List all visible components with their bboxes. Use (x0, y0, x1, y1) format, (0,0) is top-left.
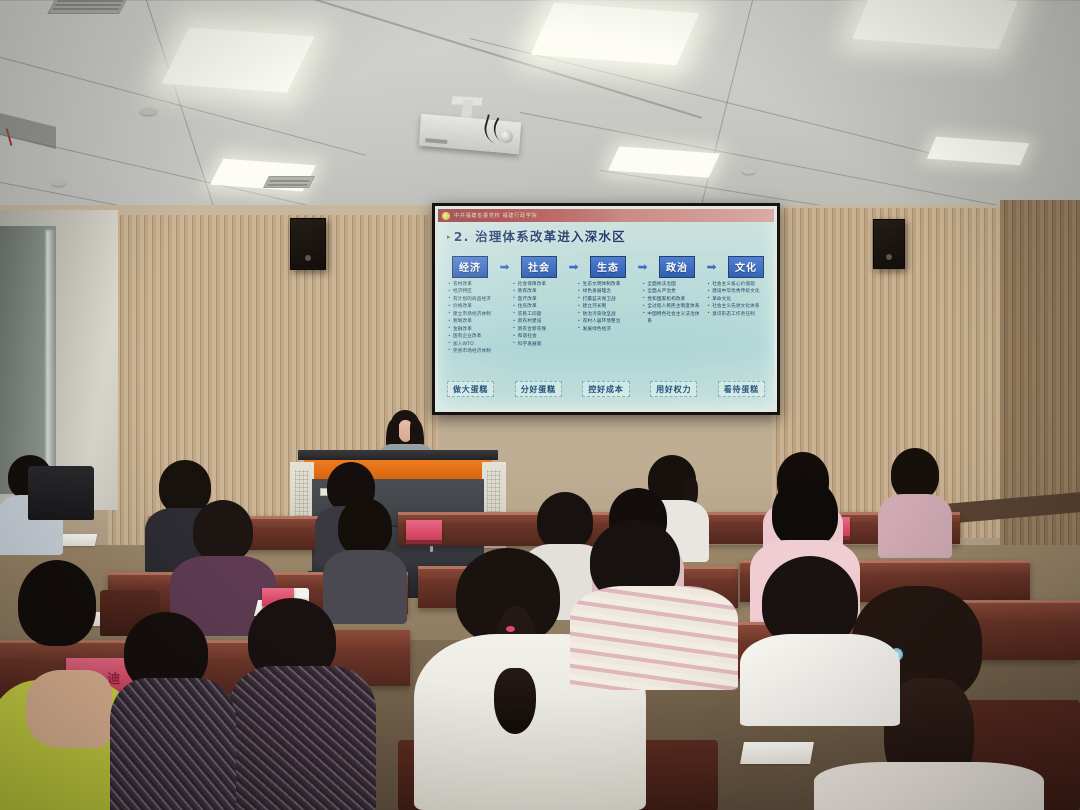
bullet-item: 全过程人民民主制度体系 (642, 303, 703, 310)
attendee-left-front (110, 612, 230, 810)
bullet-item: 新农村建设 (513, 318, 574, 325)
wall-speaker-left (290, 218, 326, 270)
attendee-torso (878, 494, 952, 558)
bullet-column-society: 社会保障改革 教育改革 医疗改革 住房改革 农民工问题 新农村建设 新农合新农保… (513, 281, 574, 355)
ceiling-light-panel (162, 27, 315, 92)
attendee-torso-striped (570, 586, 738, 690)
bottom-box-use-power-well: 用好权力 (650, 381, 697, 397)
bullet-item: 建立河长制 (578, 303, 639, 310)
ceiling-dark-panel (0, 113, 56, 149)
bullet-item: 建立市场经济体制 (448, 311, 509, 318)
bullet-item: 全面依法治国 (642, 281, 703, 288)
notepad (740, 742, 814, 764)
attendee-left-mid (236, 598, 366, 810)
ceiling-light-panel (927, 137, 1029, 166)
bullet-item: 社会主义先进文化体系 (707, 303, 768, 310)
bottom-box-divide-cake-well: 分好蛋糕 (515, 381, 562, 397)
bullet-item: 社会保障改革 (513, 281, 574, 288)
attendee (884, 448, 946, 556)
smoke-detector-icon (140, 108, 157, 115)
bullet-column-economy: 农村改革 经济特区 有计划的商品经济 价格改革 建立市场经济体制 税制改革 金融… (448, 281, 509, 355)
classroom-photo: 中共福建省委党校 福建行政学院 ▸2. 治理体系改革进入深水区 经济 ➡ 社会 … (0, 0, 1080, 810)
attendee-torso-patterned (110, 678, 236, 810)
bullet-item: 农民工问题 (513, 311, 574, 318)
attendee-head (891, 448, 939, 500)
slide-bottom-boxes: 做大蛋糕 分好蛋糕 控好成本 用好权力 看待蛋糕 (447, 381, 765, 397)
bullet-item: 全面从严治党 (642, 288, 703, 295)
bullet-item: 教育改革 (513, 288, 574, 295)
bullet-column-ecology: 生态文明体制改革 绿色发展理念 打赢蓝天保卫战 建立河长制 防治污染攻坚战 农村… (578, 281, 639, 355)
arrow-right-icon: ➡ (637, 261, 647, 273)
attendee-arm (26, 670, 112, 748)
speaker-driver-icon (305, 255, 311, 261)
bullet-item: 税制改革 (448, 318, 509, 325)
bullet-item: 打赢蓝天保卫战 (578, 296, 639, 303)
bottom-box-make-cake-bigger: 做大蛋糕 (447, 381, 494, 397)
ceiling (0, 0, 1080, 215)
bullet-item: 医疗改革 (513, 296, 574, 303)
arrow-right-icon: ➡ (706, 261, 716, 273)
bullet-item: 经济特区 (448, 288, 509, 295)
bullet-item: 住房改革 (513, 303, 574, 310)
wall-speaker-right (873, 219, 905, 269)
bullet-item: 农村改革 (448, 281, 509, 288)
attendee-torso (740, 634, 900, 726)
smoke-detector-icon (742, 168, 755, 174)
bullet-item: 社会主义核心价值观 (707, 281, 768, 288)
bullet-item: 建设中华优秀传统文化 (707, 288, 768, 295)
chair-back (28, 466, 94, 520)
bullet-item: 中国特色社会主义法治体系 (642, 311, 703, 326)
bullet-item: 绿色发展理念 (578, 288, 639, 295)
bullet-item: 农村人居环境整治 (578, 318, 639, 325)
wood-slat-wall-far-right (1000, 200, 1080, 580)
bullet-item: 革命文化 (707, 296, 768, 303)
arrow-right-icon: ➡ (568, 261, 578, 273)
bullet-item: 生态文明体制改革 (578, 281, 639, 288)
attendee-torso (814, 762, 1044, 810)
ceiling-vent (47, 0, 129, 14)
bullet-item: 科学发展观 (513, 341, 574, 348)
slide-chain-row: 经济 ➡ 社会 ➡ 生态 ➡ 政治 ➡ 文化 (452, 256, 764, 278)
namecard (406, 520, 442, 540)
bullet-item: 有计划的商品经济 (448, 296, 509, 303)
bottom-box-control-cost: 控好成本 (582, 381, 629, 397)
chain-box-politics: 政治 (659, 256, 695, 278)
attendee-front-left (0, 560, 110, 810)
bullet-item: 加入WTO (448, 341, 509, 348)
bullet-item: 价格改革 (448, 303, 509, 310)
window-light-glow (46, 230, 55, 492)
attendee-head (338, 498, 392, 556)
ceiling-light-panel (852, 0, 1017, 49)
chain-box-culture: 文化 (728, 256, 764, 278)
smoke-detector-icon (52, 180, 65, 186)
bullet-item: 发展绿色经济 (578, 326, 639, 333)
speaker-driver-icon (886, 254, 892, 260)
bullet-item: 防治污染攻坚战 (578, 311, 639, 318)
bullet-item: 完善市场经济体制 (448, 348, 509, 355)
attendee-head (193, 500, 253, 562)
bullet-column-politics: 全面依法治国 全面从严治党 党和国家机构改革 全过程人民民主制度体系 中国特色社… (642, 281, 703, 355)
bullet-item: 金融改革 (448, 326, 509, 333)
slide-title: ▸2. 治理体系改革进入深水区 (447, 226, 626, 245)
bullet-item: 和谐社会 (513, 333, 574, 340)
screen-surface: 中共福建省委党校 福建行政学院 ▸2. 治理体系改革进入深水区 经济 ➡ 社会 … (435, 206, 777, 412)
attendee-torso-patterned (228, 666, 376, 810)
bullet-item: 意识形态工作责任制 (707, 311, 768, 318)
title-marker-icon: ▸ (447, 233, 452, 241)
attendee-ponytail-tip (494, 668, 536, 734)
bullet-column-culture: 社会主义核心价值观 建设中华优秀传统文化 革命文化 社会主义先进文化体系 意识形… (707, 281, 768, 355)
bottom-box-view-cake: 看待蛋糕 (718, 381, 765, 397)
bullet-item: 新农合新农保 (513, 326, 574, 333)
attendee-head (772, 478, 838, 548)
podium-desktop (298, 450, 498, 460)
hair-scrunchie (506, 626, 515, 632)
chain-box-society: 社会 (521, 256, 557, 278)
ceiling-vent (263, 176, 315, 188)
chain-box-economy: 经济 (452, 256, 488, 278)
attendee-behind-center (570, 520, 710, 690)
chain-box-ecology: 生态 (590, 256, 626, 278)
presentation-slide: 中共福建省委党校 福建行政学院 ▸2. 治理体系改革进入深水区 经济 ➡ 社会 … (438, 209, 774, 409)
slide-bullet-columns: 农村改革 经济特区 有计划的商品经济 价格改革 建立市场经济体制 税制改革 金融… (448, 281, 768, 355)
arrow-right-icon: ➡ (499, 261, 509, 273)
slide-banner: 中共福建省委党校 福建行政学院 (438, 209, 774, 222)
projection-screen: 中共福建省委党校 福建行政学院 ▸2. 治理体系改革进入深水区 经济 ➡ 社会 … (432, 203, 780, 415)
attendee-head (18, 560, 96, 646)
slide-title-text: 2. 治理体系改革进入深水区 (454, 229, 626, 244)
party-emblem-icon (442, 212, 450, 220)
slide-banner-text: 中共福建省委党校 福建行政学院 (454, 212, 537, 219)
ceiling-light-panel (531, 3, 699, 65)
bullet-item: 党和国家机构改革 (642, 296, 703, 303)
attendee-right-mid (740, 556, 890, 716)
bullet-item: 国有企业改革 (448, 333, 509, 340)
projector-brand-label (425, 138, 447, 144)
